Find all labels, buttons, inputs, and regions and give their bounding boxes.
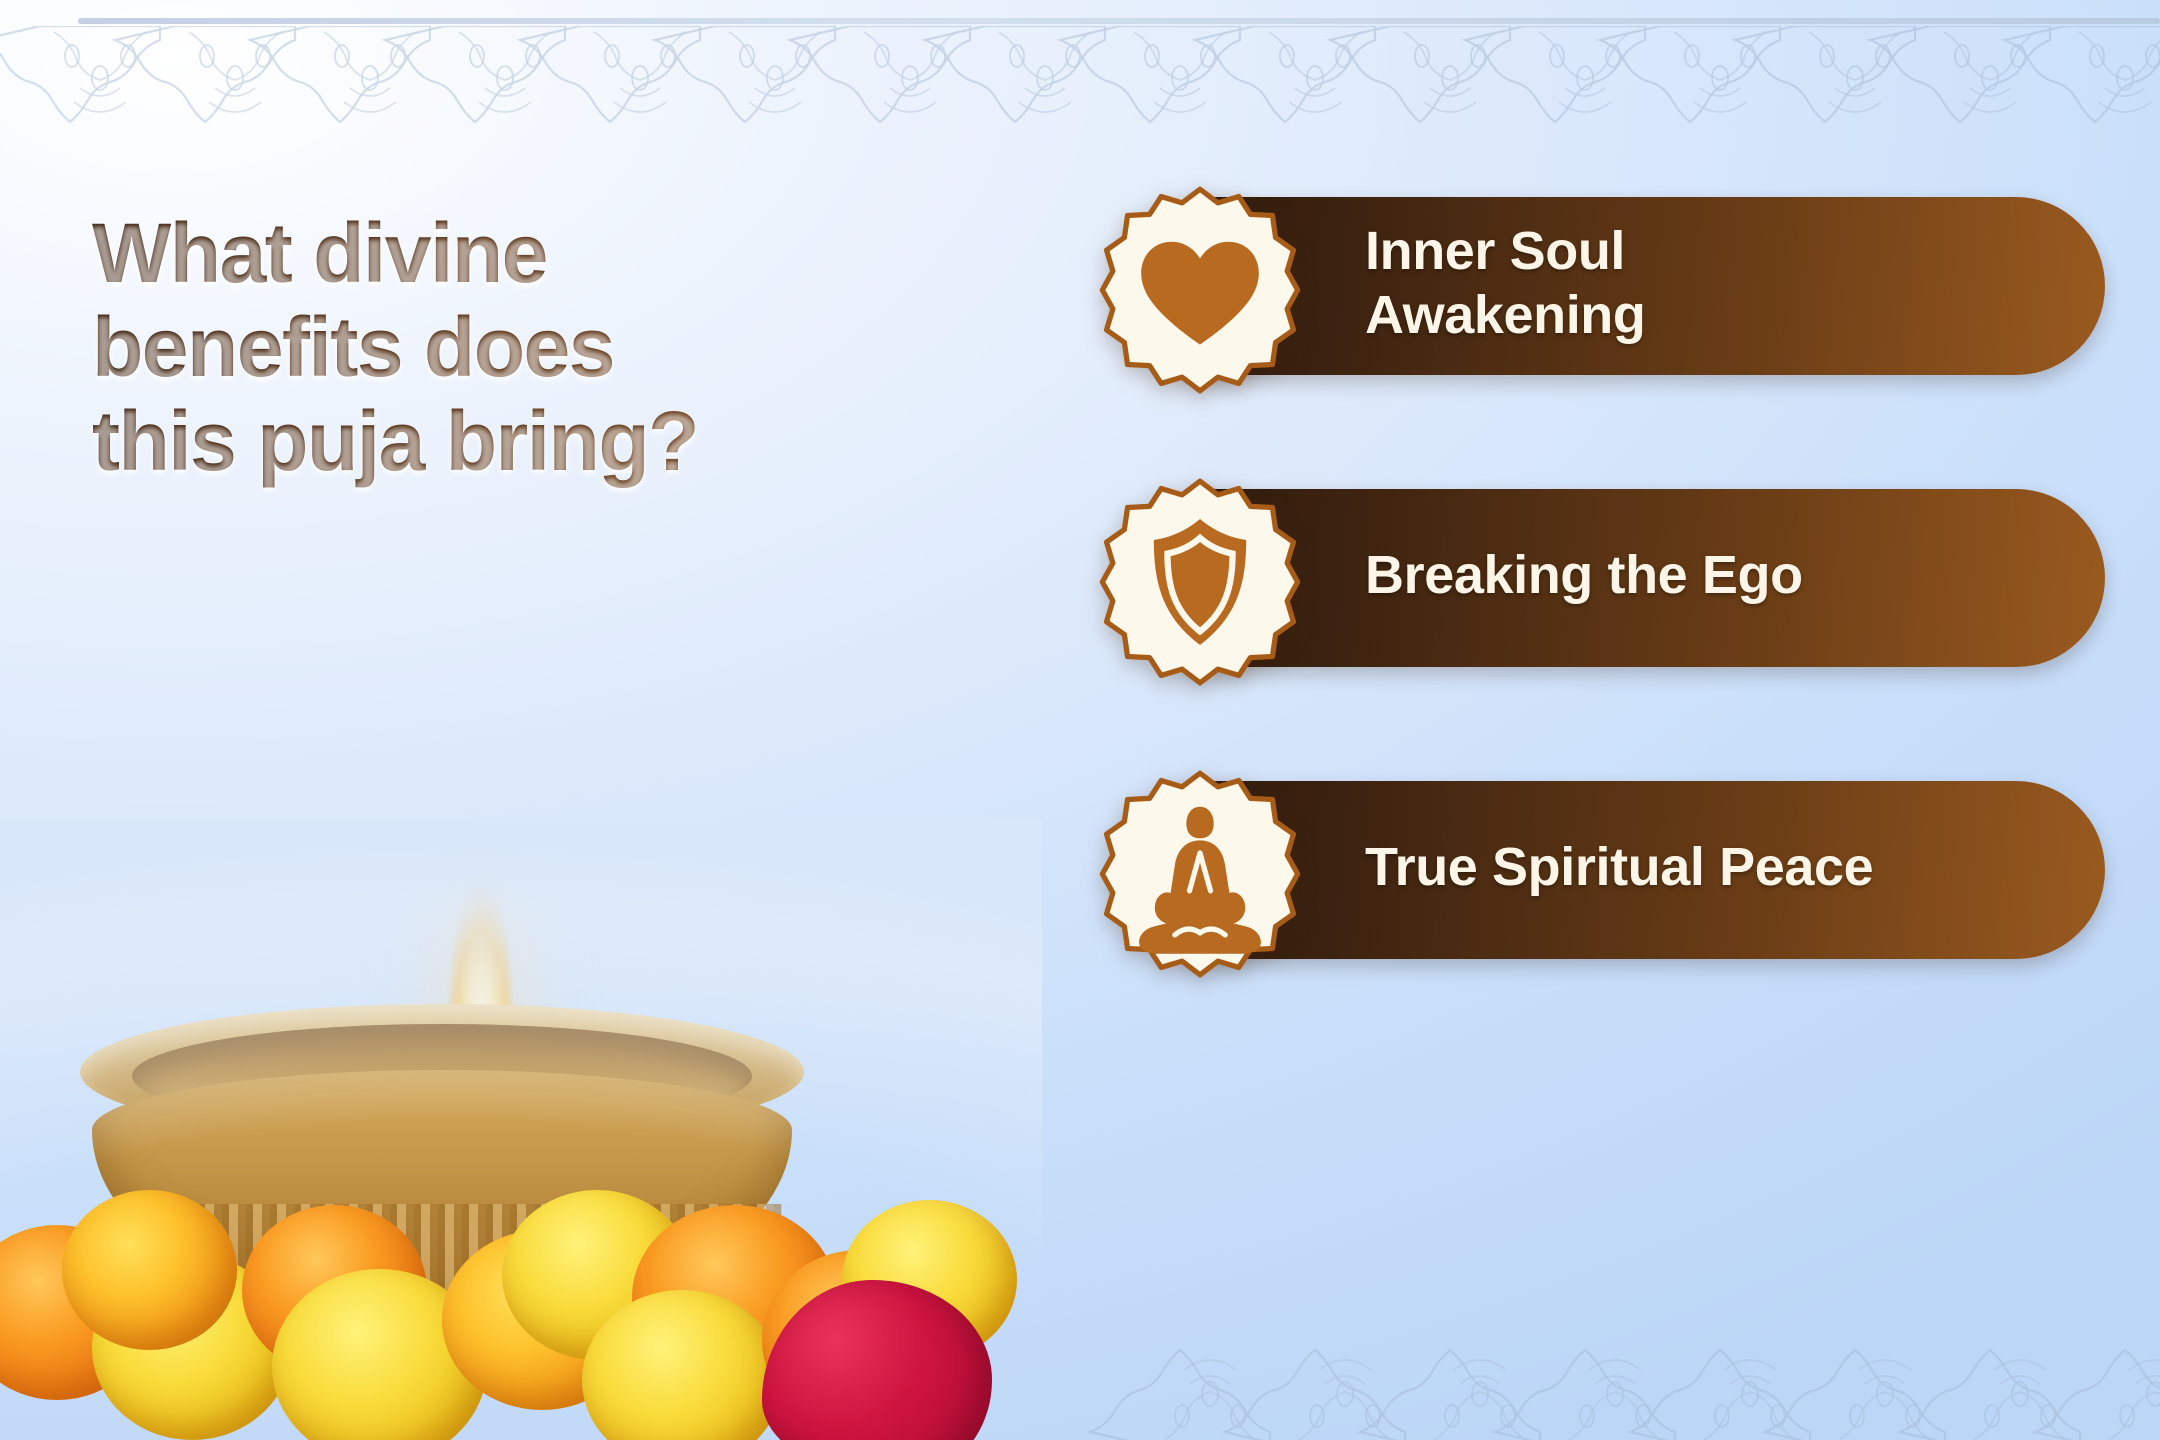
poster-canvas: What divine benefits does this puja brin… (0, 0, 2160, 1440)
headline-line-3: this puja bring? (92, 394, 932, 488)
marigold-flower-garland (0, 1170, 1042, 1440)
brass-diya-oil-lamp-photo (0, 820, 1042, 1440)
benefit-card-breaking-the-ego[interactable]: Breaking the Ego (1095, 477, 2105, 675)
benefit-label: Breaking the Ego (1365, 544, 1803, 608)
headline-line-1: What divine (92, 206, 932, 300)
marigold-bloom (62, 1190, 237, 1350)
mandala-lace-border-top (0, 26, 2160, 146)
headline-line-2: benefits does (92, 300, 932, 394)
page-title: What divine benefits does this puja brin… (92, 206, 932, 488)
benefit-label-line-1: True Spiritual Peace (1365, 837, 1873, 897)
benefit-card-true-spiritual-peace[interactable]: True Spiritual Peace (1095, 769, 2105, 967)
benefit-card-inner-soul-awakening[interactable]: Inner Soul Awakening (1095, 185, 2105, 383)
badge-true-spiritual-peace (1095, 769, 1305, 979)
benefit-label: True Spiritual Peace (1365, 836, 1873, 900)
benefit-label-line-1: Inner Soul (1365, 221, 1625, 281)
badge-breaking-the-ego (1095, 477, 1305, 687)
benefit-label-line-2: Awakening (1365, 285, 1645, 345)
benefits-list: Inner Soul Awakening Breaking the Ego (1095, 185, 2105, 967)
benefit-label-line-1: Breaking the Ego (1365, 545, 1803, 605)
top-rule-divider (78, 18, 2160, 24)
benefit-label: Inner Soul Awakening (1365, 220, 1645, 347)
badge-inner-soul-awakening (1095, 185, 1305, 395)
